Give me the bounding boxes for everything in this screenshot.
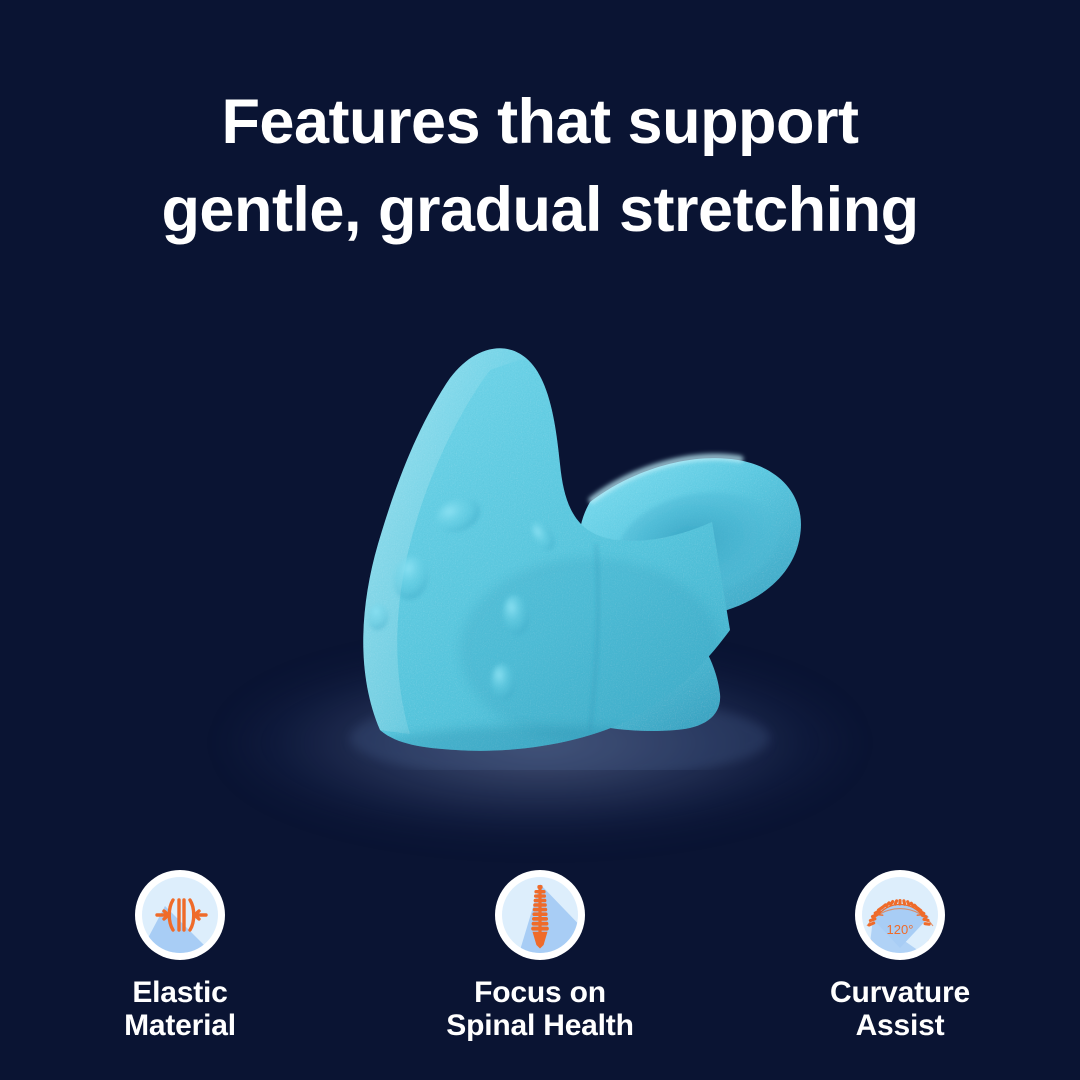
feature-badge-spine [495,870,585,960]
feature-item-elastic-material[interactable]: Elastic Material [30,870,330,1042]
page-title-line-2: gentle, gradual stretching [0,166,1080,254]
hero-section [0,330,1080,850]
angle-label: 120° [887,922,914,937]
feature-item-curvature-assist[interactable]: 120° Curvature Assist [750,870,1050,1042]
feature-label-curvature-line-2: Assist [830,1009,970,1042]
curvature-angle-icon: 120° [855,870,945,960]
feature-badge-curvature: 120° [855,870,945,960]
promo-canvas: Features that support gentle, gradual st… [0,0,1080,1080]
feature-label-elastic: Elastic Material [124,976,236,1042]
elastic-compression-icon [135,870,225,960]
feature-item-spinal-health[interactable]: Focus on Spinal Health [390,870,690,1042]
feature-label-elastic-line-1: Elastic [124,976,236,1009]
page-title: Features that support gentle, gradual st… [0,78,1080,254]
product-image [260,330,820,770]
spine-column-icon [495,870,585,960]
feature-badge-elastic [135,870,225,960]
feature-label-spine-line-1: Focus on [446,976,633,1009]
neck-stretcher-illustration [260,330,820,770]
feature-list: Elastic Material [0,870,1080,1042]
feature-label-curvature-line-1: Curvature [830,976,970,1009]
feature-label-spine: Focus on Spinal Health [446,976,633,1042]
feature-label-elastic-line-2: Material [124,1009,236,1042]
feature-label-spine-line-2: Spinal Health [446,1009,633,1042]
page-title-line-1: Features that support [0,78,1080,166]
feature-label-curvature: Curvature Assist [830,976,970,1042]
